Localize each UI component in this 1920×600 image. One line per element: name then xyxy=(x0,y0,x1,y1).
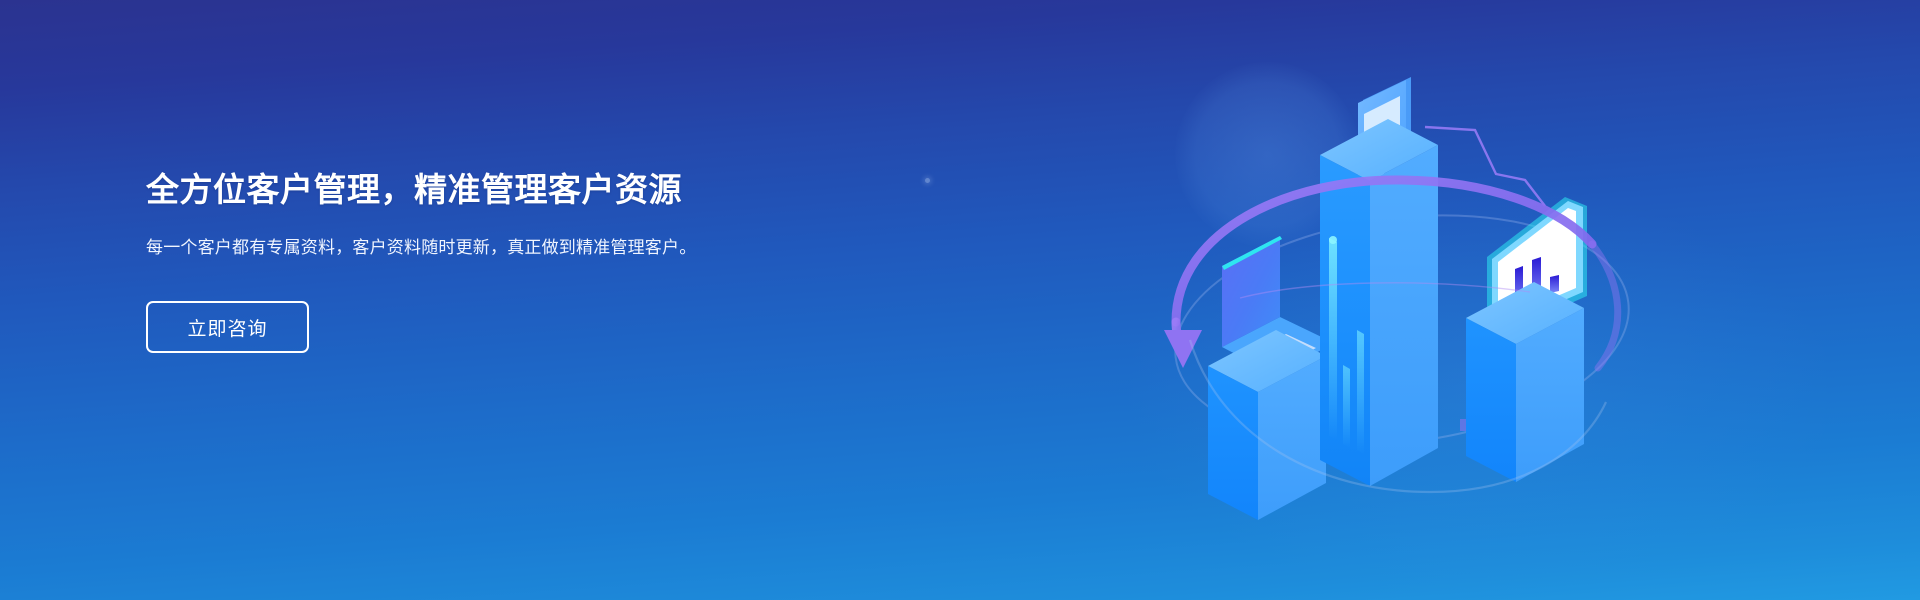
connector-line xyxy=(1425,127,1545,206)
page-title: 全方位客户管理，精准管理客户资源 xyxy=(146,170,786,210)
hero-subtitle: 每一个客户都有专属资料，客户资料随时更新，真正做到精准管理客户。 xyxy=(146,234,731,262)
sparkle-dot-icon xyxy=(925,178,930,183)
center-pedestal xyxy=(1320,77,1438,486)
right-pedestal xyxy=(1466,197,1587,482)
hero-banner: 全方位客户管理，精准管理客户资源 每一个客户都有专属资料，客户资料随时更新，真正… xyxy=(0,0,1920,600)
hero-illustration xyxy=(1130,30,1690,590)
hero-copy-block: 全方位客户管理，精准管理客户资源 每一个客户都有专属资料，客户资料随时更新，真正… xyxy=(146,170,786,353)
left-pedestal xyxy=(1208,236,1334,520)
consult-now-button[interactable]: 立即咨询 xyxy=(146,301,309,353)
